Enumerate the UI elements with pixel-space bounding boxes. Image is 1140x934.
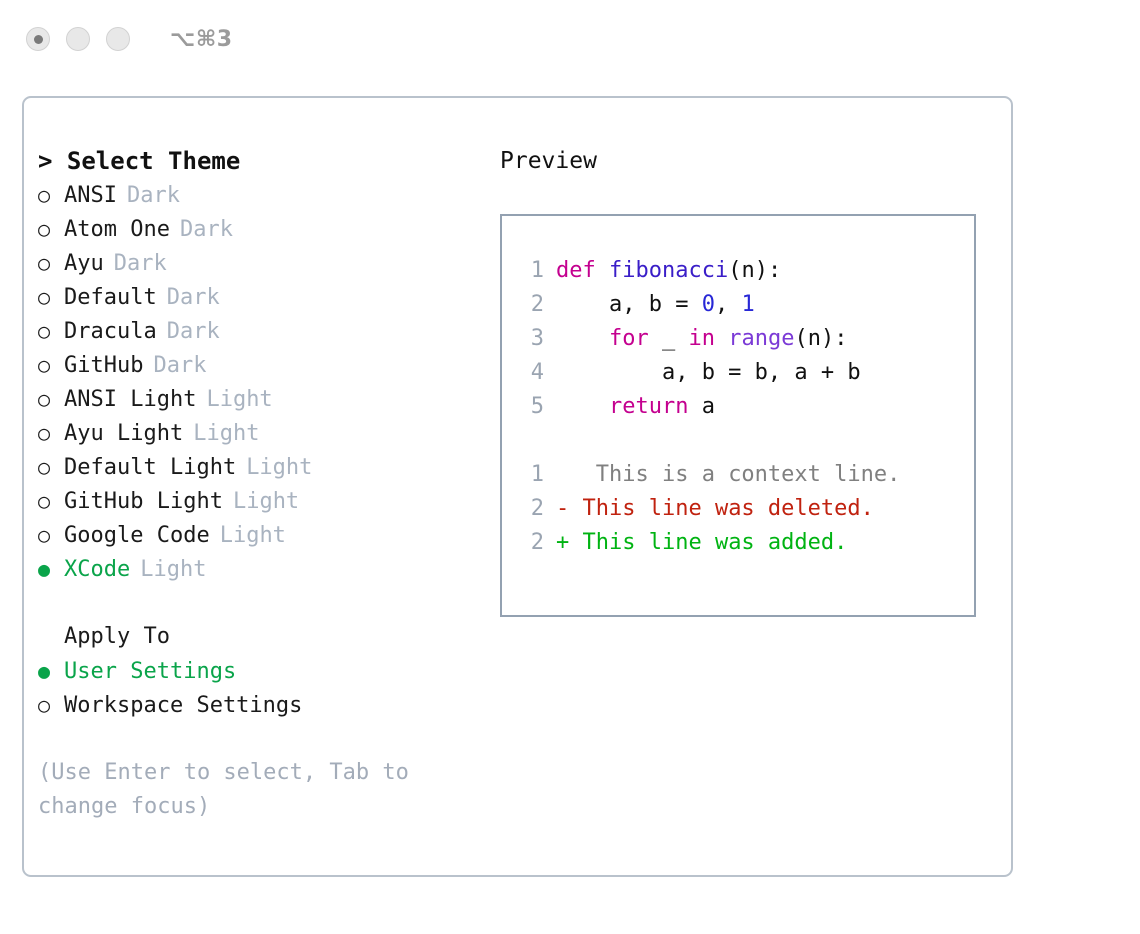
line-number: 4 (518, 356, 544, 390)
preview-panel: 1def fibonacci(n):2 a, b = 0, 13 for _ i… (500, 214, 976, 617)
theme-variant-label: Dark (167, 315, 220, 349)
theme-name: ANSI (64, 179, 117, 213)
theme-list-item[interactable]: ○ANSIDark (38, 178, 488, 212)
theme-list-item[interactable]: ●XCodeLight (38, 552, 488, 586)
theme-name: Dracula (64, 315, 157, 349)
select-theme-header: > Select Theme (38, 144, 488, 178)
theme-variant-label: Dark (114, 247, 167, 281)
app-window: ⌥⌘3 > Select Theme ○ANSIDark○Atom OneDar… (0, 0, 1140, 934)
line-number: 1 (518, 458, 544, 492)
line-number: 2 (518, 492, 544, 526)
code-token: 0 (702, 292, 715, 317)
theme-list-item[interactable]: ○Atom OneDark (38, 212, 488, 246)
radio-unselected-icon: ○ (38, 416, 64, 450)
radio-selected-icon: ● (38, 654, 64, 688)
code-token: fibonacci (609, 258, 728, 283)
theme-variant-label: Dark (127, 179, 180, 213)
code-token: def (556, 258, 609, 283)
theme-name: Default Light (64, 451, 236, 485)
diff-marker: - (556, 496, 569, 521)
theme-list-item[interactable]: ○DefaultDark (38, 280, 488, 314)
code-token: range (728, 326, 794, 351)
preview-column: Preview 1def fibonacci(n):2 a, b = 0, 13… (500, 144, 1000, 617)
code-token: a, b = b, a + b (556, 360, 861, 385)
code-token (715, 326, 728, 351)
code-line: 4 a, b = b, a + b (518, 356, 900, 390)
code-sample: 1def fibonacci(n):2 a, b = 0, 13 for _ i… (518, 254, 900, 560)
theme-list-item[interactable]: ○GitHub LightLight (38, 484, 488, 518)
radio-selected-icon: ● (38, 552, 64, 586)
theme-list-item[interactable]: ○AyuDark (38, 246, 488, 280)
diff-marker (556, 462, 569, 487)
apply-to-label: Workspace Settings (64, 689, 302, 723)
line-number: 2 (518, 288, 544, 322)
theme-picker-dialog: > Select Theme ○ANSIDark○Atom OneDark○Ay… (22, 96, 1013, 877)
radio-unselected-icon: ○ (38, 348, 64, 382)
radio-unselected-icon: ○ (38, 688, 64, 722)
diff-marker: + (556, 530, 569, 555)
theme-variant-label: Light (233, 485, 299, 519)
radio-unselected-icon: ○ (38, 246, 64, 280)
apply-to-list: ●User Settings○Workspace Settings (38, 654, 488, 722)
radio-unselected-icon: ○ (38, 382, 64, 416)
code-token: a (688, 394, 715, 419)
line-number: 5 (518, 390, 544, 424)
code-token (556, 326, 609, 351)
code-line: 3 for _ in range(n): (518, 322, 900, 356)
theme-list-item[interactable]: ○Default LightLight (38, 450, 488, 484)
radio-unselected-icon: ○ (38, 280, 64, 314)
line-number: 1 (518, 254, 544, 288)
keyboard-shortcut-label: ⌥⌘3 (170, 27, 233, 52)
theme-name: GitHub Light (64, 485, 223, 519)
line-number: 2 (518, 526, 544, 560)
radio-unselected-icon: ○ (38, 314, 64, 348)
theme-name: Ayu Light (64, 417, 183, 451)
diff-text: This line was deleted. (569, 496, 874, 521)
theme-name: XCode (64, 553, 130, 587)
theme-variant-label: Dark (167, 281, 220, 315)
theme-list-item[interactable]: ○Google CodeLight (38, 518, 488, 552)
code-line: 2 a, b = 0, 1 (518, 288, 900, 322)
code-blank-line (518, 424, 900, 458)
radio-unselected-icon: ○ (38, 518, 64, 552)
apply-to-header: Apply To (38, 620, 488, 654)
window-dot-active-inner-icon (34, 35, 43, 44)
apply-to-label: User Settings (64, 655, 236, 689)
code-token: , (715, 292, 742, 317)
theme-variant-label: Light (220, 519, 286, 553)
code-line: 1def fibonacci(n): (518, 254, 900, 288)
code-token: a, b = (556, 292, 702, 317)
code-token: (n): (728, 258, 781, 283)
code-token (556, 394, 609, 419)
theme-name: Default (64, 281, 157, 315)
theme-list-item[interactable]: ○ANSI LightLight (38, 382, 488, 416)
code-token: in (688, 326, 715, 351)
apply-to-item[interactable]: ●User Settings (38, 654, 488, 688)
theme-list: ○ANSIDark○Atom OneDark○AyuDark○DefaultDa… (38, 178, 488, 586)
theme-variant-label: Dark (180, 213, 233, 247)
diff-line: 1 This is a context line. (518, 458, 900, 492)
window-dot-active-icon[interactable] (26, 27, 50, 51)
theme-list-item[interactable]: ○DraculaDark (38, 314, 488, 348)
code-token: _ (649, 326, 689, 351)
diff-text: This line was added. (569, 530, 847, 555)
window-titlebar: ⌥⌘3 (0, 0, 1140, 78)
diff-text: This is a context line. (569, 462, 900, 487)
theme-name: GitHub (64, 349, 143, 383)
line-number: 3 (518, 322, 544, 356)
preview-title: Preview (500, 144, 1000, 178)
theme-name: ANSI Light (64, 383, 196, 417)
diff-line: 2+ This line was added. (518, 526, 900, 560)
code-token: return (609, 394, 688, 419)
theme-variant-label: Light (193, 417, 259, 451)
radio-unselected-icon: ○ (38, 212, 64, 246)
theme-list-item[interactable]: ○Ayu LightLight (38, 416, 488, 450)
theme-name: Atom One (64, 213, 170, 247)
window-dot-third-icon[interactable] (106, 27, 130, 51)
radio-unselected-icon: ○ (38, 450, 64, 484)
radio-unselected-icon: ○ (38, 178, 64, 212)
code-token: (n): (794, 326, 847, 351)
window-dot-second-icon[interactable] (66, 27, 90, 51)
theme-variant-label: Light (246, 451, 312, 485)
theme-list-item[interactable]: ○GitHubDark (38, 348, 488, 382)
code-token: 1 (741, 292, 754, 317)
radio-unselected-icon: ○ (38, 484, 64, 518)
diff-line: 2- This line was deleted. (518, 492, 900, 526)
theme-variant-label: Dark (153, 349, 206, 383)
keyboard-hint: (Use Enter to select, Tab to change focu… (38, 756, 448, 824)
theme-variant-label: Light (140, 553, 206, 587)
theme-name: Ayu (64, 247, 104, 281)
code-token: for (609, 326, 649, 351)
theme-selection-column: > Select Theme ○ANSIDark○Atom OneDark○Ay… (38, 144, 488, 824)
apply-to-item[interactable]: ○Workspace Settings (38, 688, 488, 722)
theme-variant-label: Light (206, 383, 272, 417)
section-spacer (38, 586, 488, 620)
theme-name: Google Code (64, 519, 210, 553)
code-line: 5 return a (518, 390, 900, 424)
